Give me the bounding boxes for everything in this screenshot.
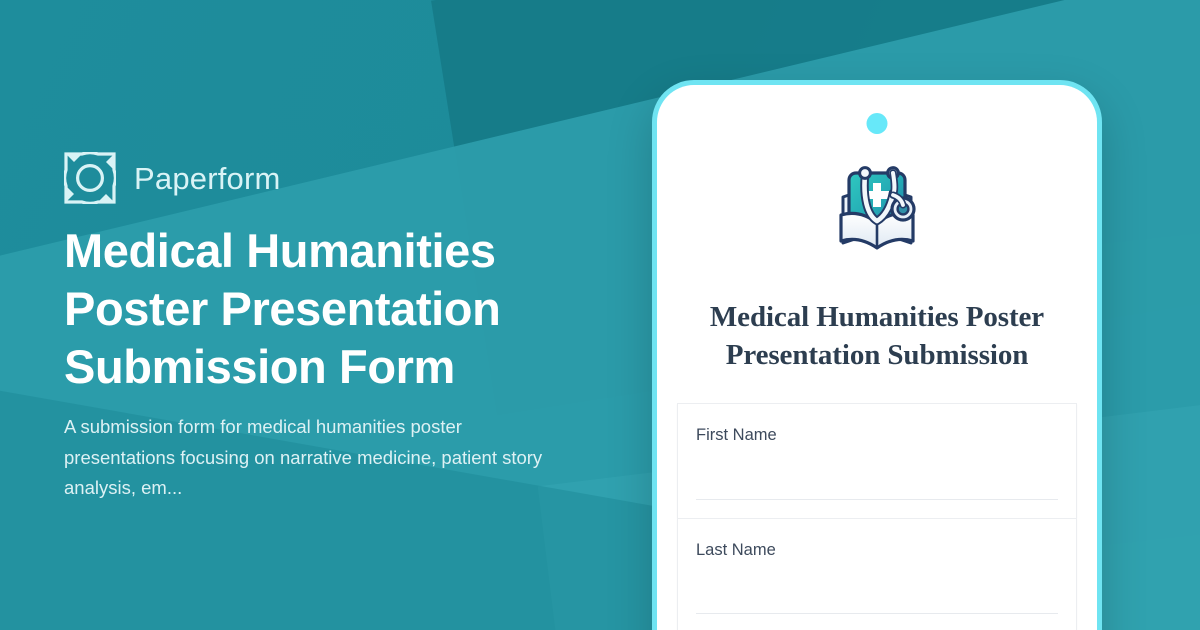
share-card-canvas: Paperform Medical Humanities Poster Pres… bbox=[0, 0, 1200, 630]
form-field-last-name[interactable]: Last Name bbox=[677, 518, 1077, 630]
hero-column: Paperform Medical Humanities Poster Pres… bbox=[64, 0, 624, 630]
page-description: A submission form for medical humanities… bbox=[64, 412, 564, 504]
form-field-first-name[interactable]: First Name bbox=[677, 403, 1077, 518]
paperform-logo-icon bbox=[64, 152, 116, 204]
last-name-input[interactable] bbox=[696, 579, 1058, 613]
brand-name: Paperform bbox=[134, 163, 281, 194]
camera-dot-icon bbox=[867, 113, 888, 134]
medical-book-stethoscope-icon bbox=[825, 153, 929, 257]
brand-lockup: Paperform bbox=[64, 148, 281, 208]
field-underline bbox=[696, 613, 1058, 614]
page-title: Medical Humanities Poster Presentation S… bbox=[64, 222, 584, 396]
field-underline bbox=[696, 499, 1058, 500]
form-title: Medical Humanities Poster Presentation S… bbox=[681, 298, 1073, 374]
field-label: First Name bbox=[696, 426, 777, 446]
phone-mockup: Medical Humanities Poster Presentation S… bbox=[652, 80, 1102, 630]
field-label: Last Name bbox=[696, 541, 776, 561]
form-fields: First Name Last Name bbox=[677, 403, 1077, 630]
first-name-input[interactable] bbox=[696, 465, 1058, 499]
